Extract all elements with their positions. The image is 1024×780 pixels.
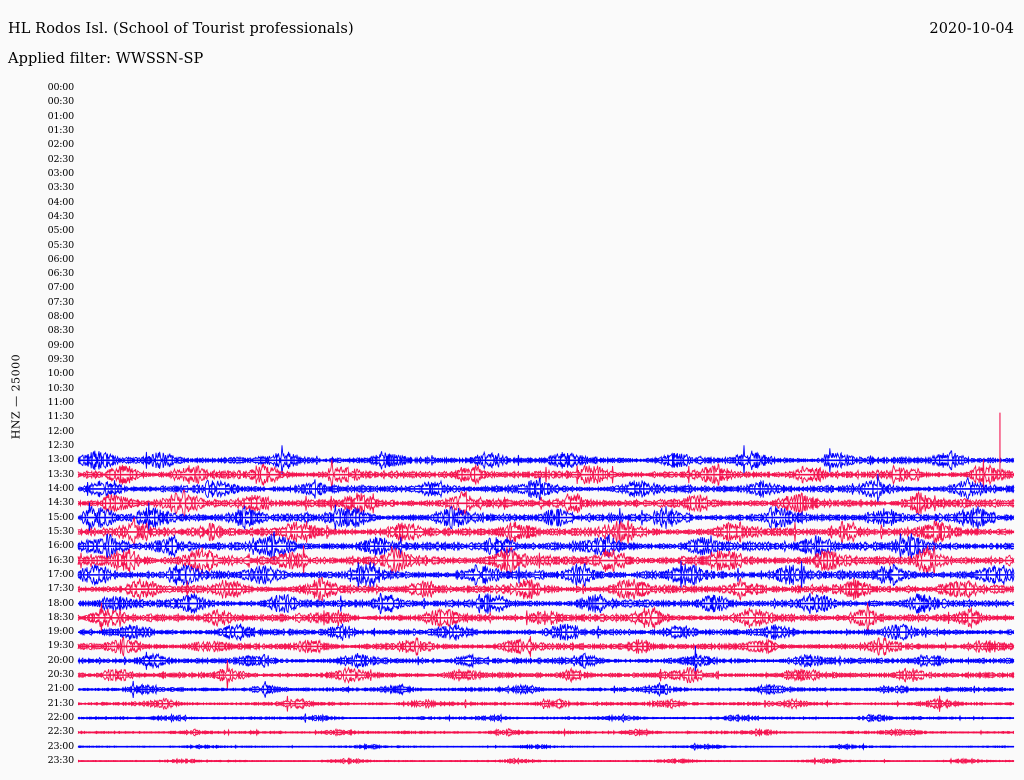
seismic-trace-row [78,696,1014,712]
helicorder-plot [0,0,1024,780]
trace-canvas [0,0,1024,780]
seismic-trace-row [78,413,1014,490]
trace-path [78,689,1014,698]
trace-path [78,646,1014,656]
trace-path [78,704,1014,712]
trace-path [78,445,1014,460]
trace-path [78,636,1014,646]
seismic-trace-row [78,729,1014,737]
seismic-trace-row [78,681,1014,698]
seismic-trace-row [78,714,1014,723]
seismic-trace-row [78,624,1014,641]
seismic-trace-row [78,758,1014,765]
seismic-trace-row [78,660,1014,690]
seismogram-page: HL Rodos Isl. (School of Tourist profess… [0,0,1024,780]
trace-path [78,632,1014,641]
seismic-trace-row [78,503,1014,533]
trace-path [78,681,1014,690]
seismic-trace-row [78,743,1014,750]
trace-path [78,593,1014,604]
seismic-trace-row [78,636,1014,657]
trace-path [78,589,1014,601]
seismic-trace-row [78,577,1014,601]
trace-path [78,696,1014,704]
